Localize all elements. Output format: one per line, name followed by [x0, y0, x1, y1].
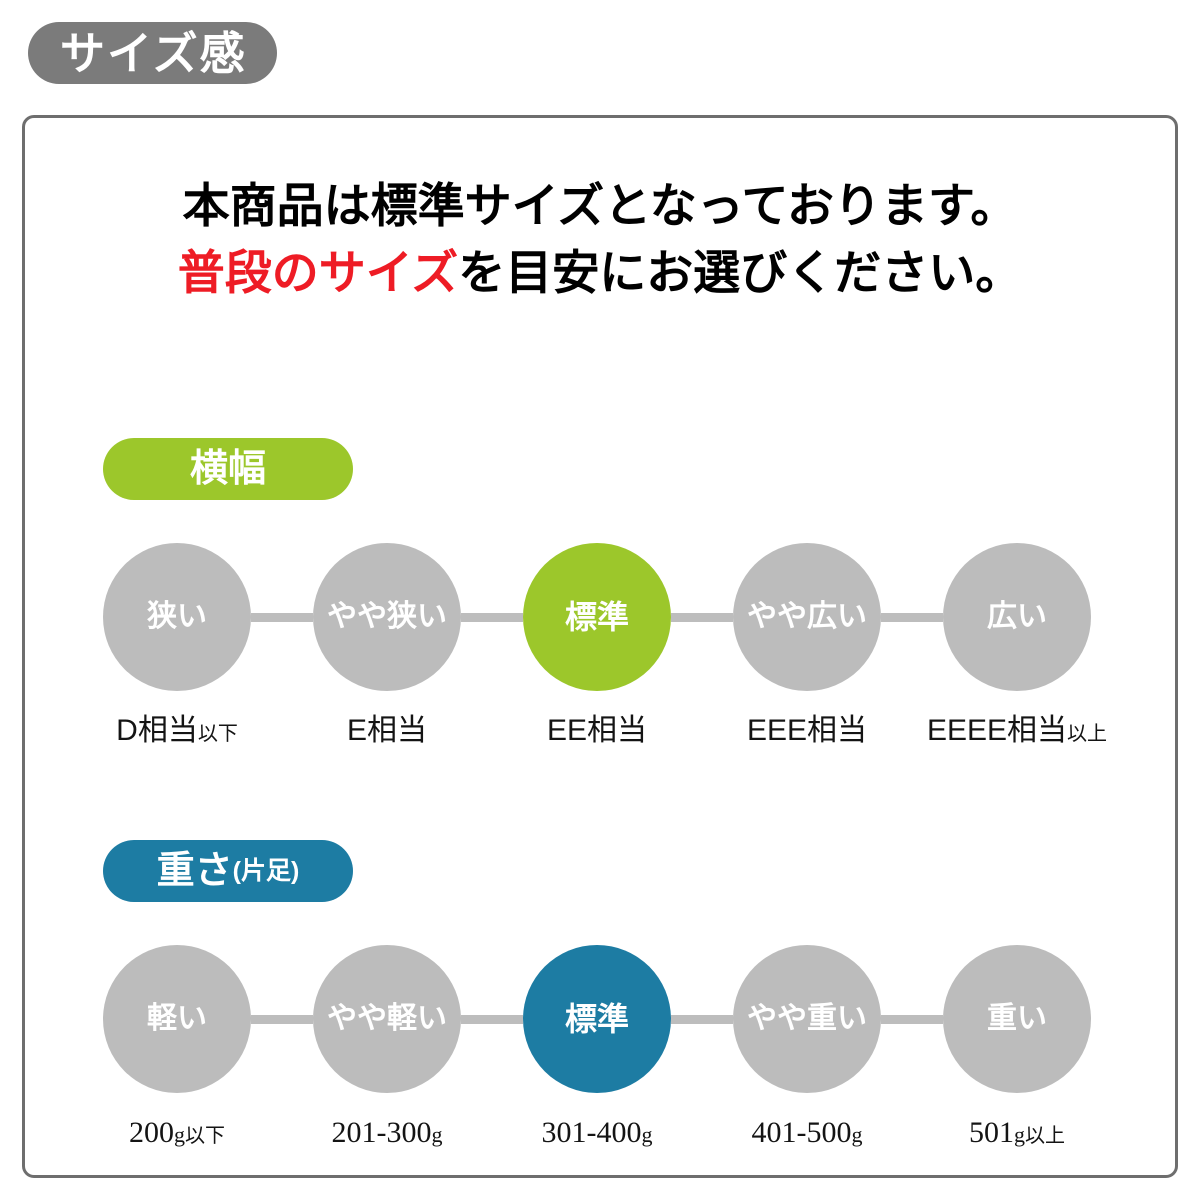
caption-main: E相当: [347, 714, 427, 747]
caption-sub: 以下: [185, 1125, 225, 1147]
section-pill-weight-label: 重さ: [157, 852, 233, 890]
intro-line-1: 本商品は標準サイズとなっております。: [25, 173, 1175, 240]
scale-node-label: 軽い: [147, 1004, 207, 1034]
scale-row-width: 狭い やや狭い 標準 やや広い 広い: [103, 543, 1103, 691]
caption-main: 200: [129, 1116, 174, 1149]
caption-sub: 以上: [1067, 723, 1107, 745]
size-guide-page: サイズ感 本商品は標準サイズとなっております。 普段のサイズを目安にお選びくださ…: [0, 0, 1200, 1200]
intro-heading: 本商品は標準サイズとなっております。 普段のサイズを目安にお選びください。: [25, 173, 1175, 306]
caption-main: EEEE相当: [927, 714, 1067, 747]
caption-weight-1: 201-300g: [272, 1118, 502, 1148]
scale-node-label: 標準: [565, 601, 629, 633]
section-pill-width: 横幅: [103, 438, 353, 500]
connector: [881, 1015, 943, 1024]
caption-sub: 以下: [198, 723, 238, 745]
connector: [881, 613, 943, 622]
scale-node-weight-0: 軽い: [103, 945, 251, 1093]
header-tab-label: サイズ感: [60, 31, 247, 76]
section-pill-width-label: 横幅: [190, 450, 266, 488]
scale-node-width-0: 狭い: [103, 543, 251, 691]
section-pill-weight: 重さ(片足): [103, 840, 353, 902]
caption-weight-3: 401-500g: [692, 1118, 922, 1148]
caption-weight-4: 501g以上: [902, 1118, 1132, 1148]
caption-weight-0: 200g以下: [62, 1118, 292, 1148]
section-pill-weight-sub: (片足): [233, 859, 300, 884]
caption-width-2: EE相当: [482, 716, 712, 746]
caption-sub: 以上: [1025, 1125, 1065, 1147]
connector: [671, 1015, 733, 1024]
caption-main: 201-300: [332, 1116, 432, 1149]
scale-node-width-1: やや狭い: [313, 543, 461, 691]
caption-width-4: EEEE相当以上: [902, 716, 1132, 746]
scale-node-label: やや軽い: [327, 1004, 447, 1034]
caption-main: 401-500: [752, 1116, 852, 1149]
caption-main: D相当: [116, 714, 198, 747]
caption-width-3: EEE相当: [692, 716, 922, 746]
caption-main: EE相当: [547, 714, 647, 747]
scale-node-label: 標準: [565, 1003, 629, 1035]
caption-unit: g: [642, 1122, 653, 1147]
caption-main: 501: [969, 1116, 1014, 1149]
caption-unit: g: [852, 1122, 863, 1147]
scale-node-weight-3: やや重い: [733, 945, 881, 1093]
scale-node-weight-4: 重い: [943, 945, 1091, 1093]
scale-node-label: やや狭い: [327, 602, 447, 632]
caption-unit: g: [432, 1122, 443, 1147]
scale-row-weight: 軽い やや軽い 標準 やや重い 重い: [103, 945, 1103, 1093]
scale-node-weight-2: 標準: [523, 945, 671, 1093]
connector: [671, 613, 733, 622]
header-tab: サイズ感: [28, 22, 277, 84]
scale-node-weight-1: やや軽い: [313, 945, 461, 1093]
content-panel: 本商品は標準サイズとなっております。 普段のサイズを目安にお選びください。 横幅…: [22, 115, 1178, 1178]
connector: [461, 613, 523, 622]
connector: [251, 613, 313, 622]
caption-row-weight: 200g以下 201-300g 301-400g 401-500g 501g以上: [103, 1118, 1103, 1162]
caption-width-1: E相当: [272, 716, 502, 746]
intro-line-2: 普段のサイズを目安にお選びください。: [25, 240, 1175, 307]
intro-line-1-text: 本商品は標準サイズとなっております。: [183, 179, 1018, 232]
scale-node-label: 重い: [987, 1004, 1047, 1034]
intro-accent-text: 普段のサイズ: [178, 246, 459, 299]
connector: [461, 1015, 523, 1024]
caption-unit: g: [174, 1122, 185, 1147]
connector: [251, 1015, 313, 1024]
scale-node-label: やや広い: [747, 602, 867, 632]
caption-unit: g: [1014, 1122, 1025, 1147]
scale-node-label: 狭い: [147, 602, 207, 632]
caption-main: 301-400: [542, 1116, 642, 1149]
caption-width-0: D相当以下: [62, 716, 292, 746]
scale-node-width-3: やや広い: [733, 543, 881, 691]
caption-main: EEE相当: [747, 714, 867, 747]
scale-node-label: 広い: [987, 602, 1047, 632]
intro-line-2-rest: を目安にお選びください。: [458, 246, 1022, 299]
scale-node-width-2: 標準: [523, 543, 671, 691]
scale-node-label: やや重い: [747, 1004, 867, 1034]
scale-node-width-4: 広い: [943, 543, 1091, 691]
caption-row-width: D相当以下 E相当 EE相当 EEE相当 EEEE相当以上: [103, 716, 1103, 760]
caption-weight-2: 301-400g: [482, 1118, 712, 1148]
